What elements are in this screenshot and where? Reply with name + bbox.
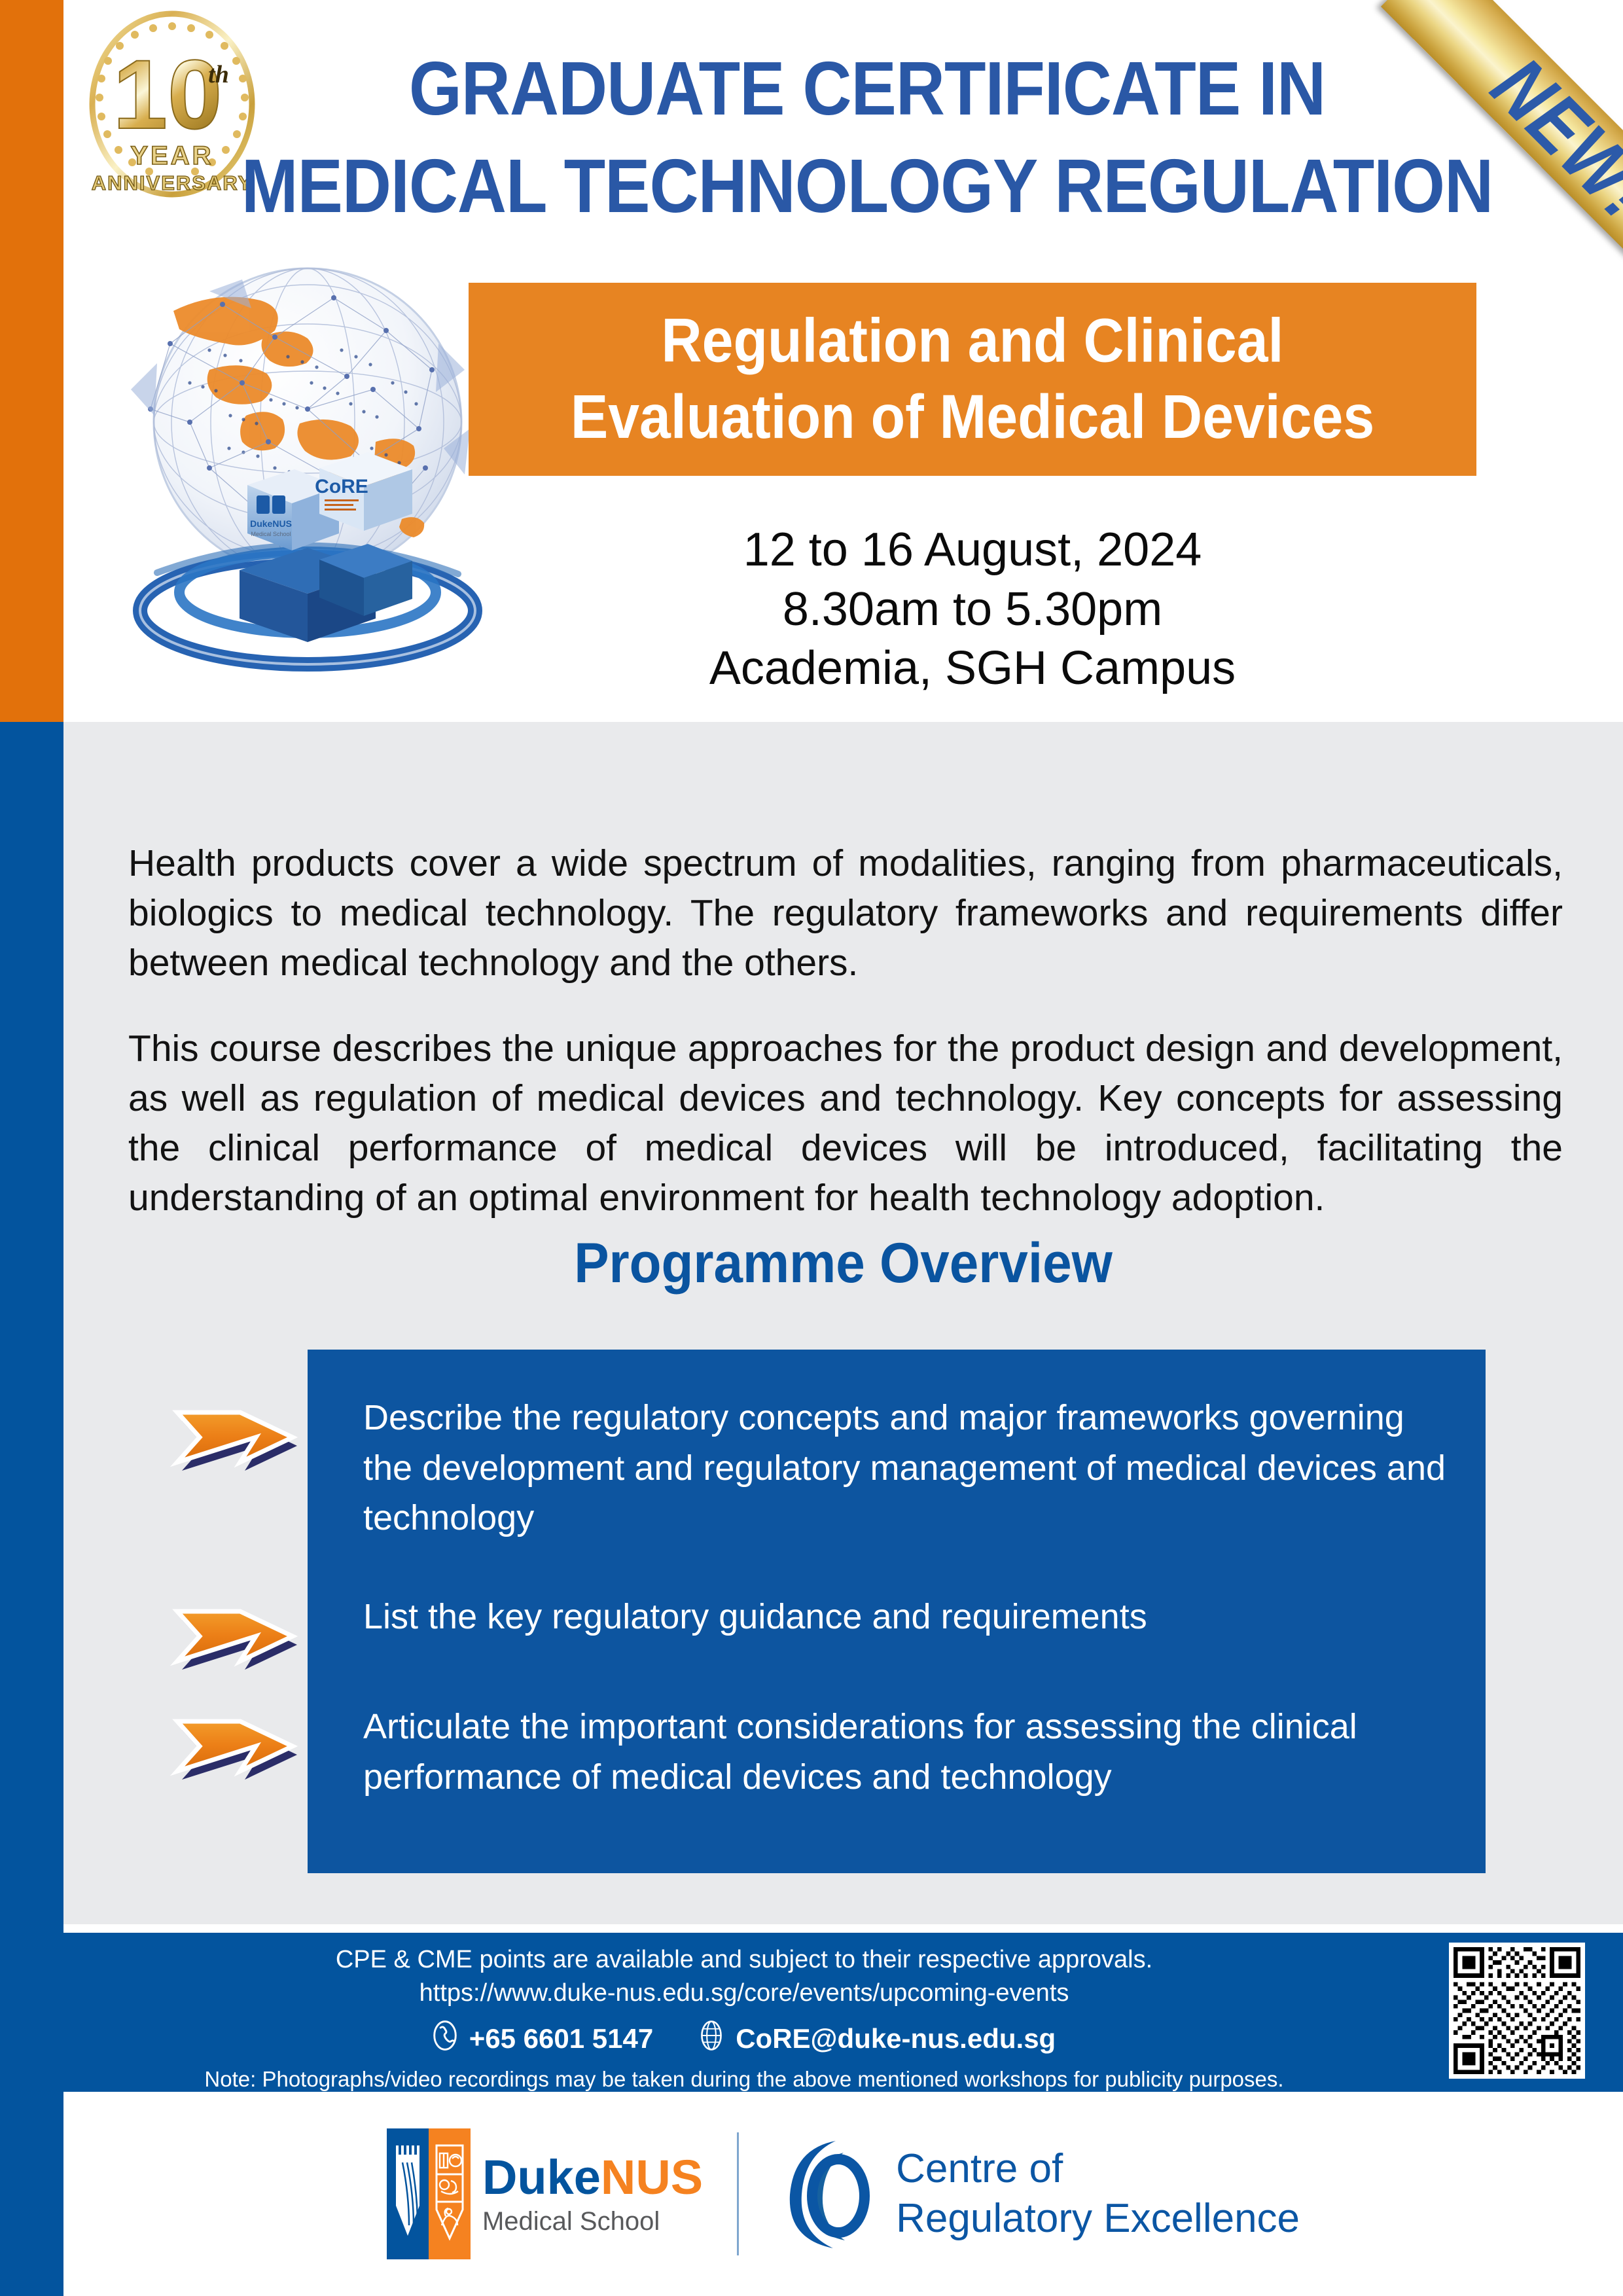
globe-network-graphic-icon: DukeNUS Medical School CoRE <box>111 252 524 697</box>
description-paragraph-2: This course describes the unique approac… <box>128 1024 1563 1223</box>
phone-number: +65 6601 5147 <box>469 2023 653 2054</box>
core-line-1: Centre of <box>896 2144 1300 2194</box>
footer-content: CPE & CME points are available and subje… <box>63 1943 1425 2092</box>
list-item: Describe the regulatory concepts and maj… <box>363 1393 1463 1543</box>
core-line-2: Regulatory Excellence <box>896 2194 1300 2244</box>
dukenus-shields-icon <box>387 2128 471 2259</box>
core-logo: Centre of Regulatory Excellence <box>773 2136 1300 2252</box>
cpe-cme-note: CPE & CME points are available and subje… <box>63 1943 1425 1977</box>
phone-icon <box>433 2020 457 2058</box>
course-title-line-1: Regulation and Clinical <box>571 303 1374 379</box>
course-description: Health products cover a wide spectrum of… <box>128 839 1563 1223</box>
phone-contact[interactable]: +65 6601 5147 <box>433 2020 653 2058</box>
objective-text: List the key regulatory guidance and req… <box>363 1597 1147 1636</box>
list-item: Articulate the important considerations … <box>363 1702 1463 1802</box>
description-paragraph-1: Health products cover a wide spectrum of… <box>128 839 1563 988</box>
email-contact[interactable]: CoRE@duke-nus.edu.sg <box>699 2020 1056 2058</box>
orange-arrow-icon <box>167 1584 301 1682</box>
photography-note: Note: Photographs/video recordings may b… <box>63 2067 1425 2092</box>
orange-arrow-icon <box>167 1385 301 1483</box>
core-swirl-icon <box>773 2136 876 2252</box>
logo-divider <box>737 2132 739 2255</box>
event-details: 12 to 16 August, 2024 8.30am to 5.30pm A… <box>469 520 1476 698</box>
objective-text: Describe the regulatory concepts and maj… <box>363 1398 1446 1537</box>
email-address: CoRE@duke-nus.edu.sg <box>736 2023 1056 2054</box>
page-title-line-2: MEDICAL TECHNOLOGY REGULATION <box>216 138 1518 236</box>
badge-number: 10 <box>113 39 223 149</box>
footer-contact-row: +65 6601 5147 CoRE@duke-nus.edu.sg <box>63 2020 1425 2058</box>
programme-objectives-list: Describe the regulatory concepts and maj… <box>363 1393 1463 1839</box>
footer-logos: DukeNUS Medical School Centre of Regula <box>63 2092 1623 2296</box>
course-title-banner: Regulation and Clinical Evaluation of Me… <box>469 283 1476 476</box>
poster-page: 10 th YEAR ANNIVERSARY GRADUATE CERTIFIC… <box>0 0 1623 2296</box>
event-date: 12 to 16 August, 2024 <box>469 520 1476 580</box>
event-venue: Academia, SGH Campus <box>469 639 1476 698</box>
page-title-line-1: GRADUATE CERTIFICATE IN <box>216 41 1518 138</box>
objective-text: Articulate the important considerations … <box>363 1707 1357 1797</box>
globe-cube-left-label: DukeNUS <box>250 518 292 529</box>
event-time: 8.30am to 5.30pm <box>469 580 1476 639</box>
globe-icon <box>699 2020 724 2058</box>
globe-cube-right-label: CoRE <box>315 476 368 497</box>
orange-arrow-icon <box>167 1694 301 1792</box>
left-orange-strip <box>0 0 63 722</box>
events-url[interactable]: https://www.duke-nus.edu.sg/core/events/… <box>63 1977 1425 2010</box>
page-title: GRADUATE CERTIFICATE IN MEDICAL TECHNOLO… <box>216 41 1518 236</box>
course-title-line-2: Evaluation of Medical Devices <box>571 380 1374 456</box>
qr-code[interactable] <box>1449 1943 1585 2079</box>
dukenus-nus-text: NUS <box>601 2150 703 2204</box>
dukenus-duke-text: Duke <box>482 2150 601 2204</box>
badge-year-label: YEAR <box>130 141 213 170</box>
dukenus-subtitle: Medical School <box>482 2208 703 2234</box>
programme-overview-heading: Programme Overview <box>63 1230 1623 1295</box>
dukenus-logo: DukeNUS Medical School <box>387 2128 703 2259</box>
list-item: List the key regulatory guidance and req… <box>363 1592 1463 1651</box>
globe-cube-left-sublabel: Medical School <box>251 531 291 537</box>
